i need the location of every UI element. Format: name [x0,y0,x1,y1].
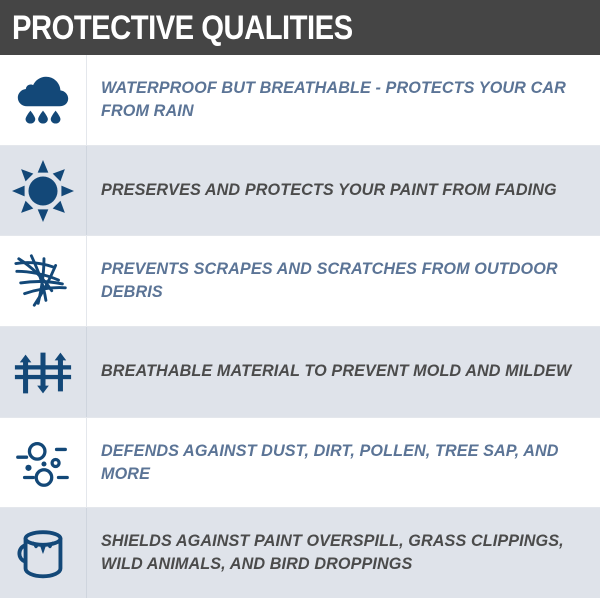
text-cell: DEFENDS AGAINST DUST, DIRT, POLLEN, TREE… [87,418,600,508]
text-cell: PREVENTS SCRAPES AND SCRATCHES FROM OUTD… [87,236,600,326]
feature-list: WATERPROOF BUT BREATHABLE - PROTECTS YOU… [0,55,600,600]
feature-text: WATERPROOF BUT BREATHABLE - PROTECTS YOU… [101,77,586,123]
icon-cell [0,418,87,508]
icon-cell [0,55,87,145]
feature-text: DEFENDS AGAINST DUST, DIRT, POLLEN, TREE… [101,440,586,486]
icon-cell [0,327,87,417]
feature-row-breathability: BREATHABLE MATERIAL TO PREVENT MOLD AND … [0,327,600,418]
feature-row-dust-defense: DEFENDS AGAINST DUST, DIRT, POLLEN, TREE… [0,418,600,509]
paint-can-icon [12,522,74,584]
text-cell: BREATHABLE MATERIAL TO PREVENT MOLD AND … [87,327,600,417]
protective-qualities-infographic: PROTECTIVE QUALITIES WATERP [0,0,600,600]
icon-cell [0,236,87,326]
header-bar: PROTECTIVE QUALITIES [0,0,600,55]
text-cell: SHIELDS AGAINST PAINT OVERSPILL, GRASS C… [87,508,600,598]
icon-cell [0,508,87,598]
feature-row-scratch-resistance: PREVENTS SCRAPES AND SCRATCHES FROM OUTD… [0,236,600,327]
text-cell: PRESERVES AND PROTECTS YOUR PAINT FROM F… [87,146,600,236]
feature-row-paint-overspill: SHIELDS AGAINST PAINT OVERSPILL, GRASS C… [0,508,600,600]
feature-row-waterproof: WATERPROOF BUT BREATHABLE - PROTECTS YOU… [0,55,600,146]
scratches-icon [12,250,74,312]
feature-text: PRESERVES AND PROTECTS YOUR PAINT FROM F… [101,179,557,202]
feature-row-uv-protection: PRESERVES AND PROTECTS YOUR PAINT FROM F… [0,146,600,237]
breathable-airflow-icon [12,341,74,403]
feature-text: PREVENTS SCRAPES AND SCRATCHES FROM OUTD… [101,258,586,304]
text-cell: WATERPROOF BUT BREATHABLE - PROTECTS YOU… [87,55,600,145]
icon-cell [0,146,87,236]
sun-icon [12,160,74,222]
feature-text: SHIELDS AGAINST PAINT OVERSPILL, GRASS C… [101,530,586,576]
rain-cloud-icon [12,69,74,131]
page-title: PROTECTIVE QUALITIES [12,11,353,45]
dust-particles-icon [12,432,74,494]
feature-text: BREATHABLE MATERIAL TO PREVENT MOLD AND … [101,360,571,383]
